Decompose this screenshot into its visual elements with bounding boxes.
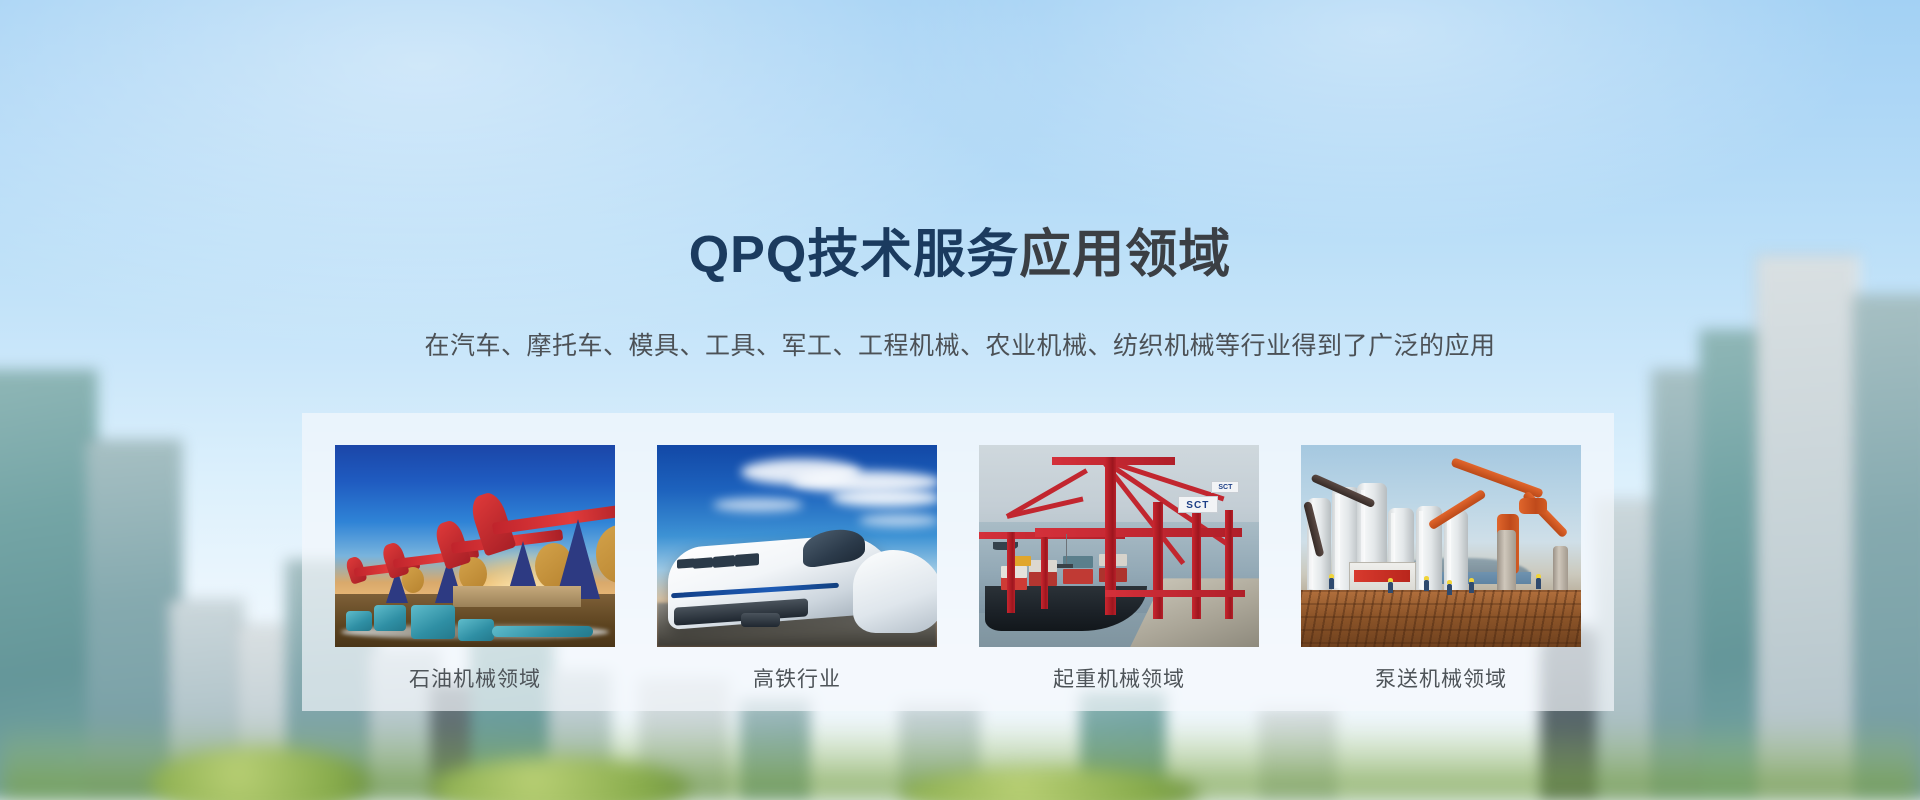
crane-leg (1225, 510, 1233, 619)
worker (1329, 578, 1334, 589)
card-thumbnail[interactable] (657, 445, 937, 647)
hero-banner: QPQ技术服务应用领域 在汽车、摩托车、模具、工具、军工、工程机械、农业机械、纺… (0, 0, 1920, 800)
spreader (1057, 564, 1073, 568)
application-card-rail[interactable]: 高铁行业 (657, 445, 937, 693)
worker (1388, 582, 1393, 593)
card-thumbnail[interactable]: SCT SCT (979, 445, 1259, 647)
crane-leg (1041, 532, 1048, 609)
card-label: 高铁行业 (657, 663, 937, 693)
application-card-crane[interactable]: SCT SCT 起重机械领域 (979, 445, 1259, 693)
card-thumbnail[interactable] (335, 445, 615, 647)
container (1063, 569, 1093, 584)
crane-leg (1153, 502, 1163, 619)
worker (1536, 578, 1541, 589)
site-banner (1354, 570, 1410, 582)
worker (1447, 584, 1452, 595)
application-card-oil[interactable]: 石油机械领域 (335, 445, 615, 693)
page-title-primary: QPQ技术服务 (689, 226, 1020, 284)
train-nose (853, 550, 937, 633)
crane-leg (1007, 532, 1015, 613)
worker (1469, 582, 1474, 593)
card-label: 泵送机械领域 (1301, 663, 1581, 693)
cloud (831, 489, 937, 507)
crane-cross-beam (1105, 590, 1245, 597)
wellhead-valve (374, 605, 406, 631)
application-fields-panel: 石油机械领域 (302, 413, 1614, 711)
train-window (735, 553, 759, 567)
crane-leg (1192, 506, 1201, 619)
wellhead-valve (411, 605, 455, 639)
page-title: QPQ技术服务应用领域 (0, 228, 1920, 283)
cloud (713, 498, 803, 512)
page-subtitle: 在汽车、摩托车、模具、工具、军工、工程机械、农业机械、纺织机械等行业得到了广泛的… (0, 326, 1920, 362)
application-card-list: 石油机械领域 (302, 413, 1614, 711)
high-speed-train-photo (657, 445, 937, 647)
card-label: 起重机械领域 (979, 663, 1259, 693)
card-thumbnail[interactable] (1301, 445, 1581, 647)
hoist-cable (1066, 534, 1068, 566)
pumpjack (486, 487, 615, 599)
train-window (713, 555, 735, 568)
crane-machinery-house: SCT (1178, 496, 1218, 513)
port-gantry-cranes-photo: SCT SCT (979, 445, 1259, 647)
crane-machinery-house: SCT (1211, 481, 1239, 493)
boom-counterweight (1519, 498, 1547, 514)
container (1013, 556, 1031, 566)
worker (1424, 580, 1429, 591)
pipeline (492, 626, 593, 637)
train-window (677, 558, 695, 568)
rebar-grid (1301, 590, 1581, 647)
train-window (693, 557, 713, 569)
concrete-pump-silos-photo (1301, 445, 1581, 647)
oil-pumpjacks-sunset-photo (335, 445, 615, 647)
cloud (859, 514, 937, 527)
card-label: 石油机械领域 (335, 663, 615, 693)
application-card-pump[interactable]: 泵送机械领域 (1301, 445, 1581, 693)
wellhead-valve (346, 611, 372, 631)
wellhead-valve (458, 619, 494, 641)
page-title-secondary: 应用领域 (1019, 226, 1231, 284)
concrete-pad (453, 586, 582, 606)
bogie (741, 613, 780, 627)
